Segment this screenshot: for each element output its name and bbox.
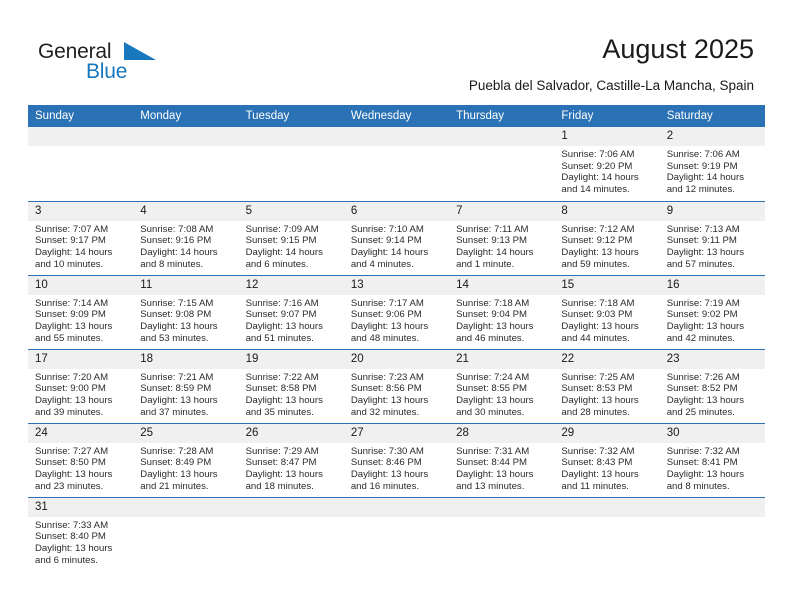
- calendar-day-cell[interactable]: 19Sunrise: 7:22 AMSunset: 8:58 PMDayligh…: [239, 349, 344, 423]
- day-sun-info: Sunrise: 7:30 AMSunset: 8:46 PMDaylight:…: [344, 443, 449, 493]
- day-sun-info: [554, 517, 659, 520]
- calendar-day-cell[interactable]: 16Sunrise: 7:19 AMSunset: 9:02 PMDayligh…: [660, 275, 765, 349]
- day-sun-info: Sunrise: 7:15 AMSunset: 9:08 PMDaylight:…: [133, 295, 238, 345]
- day-number: [133, 498, 238, 517]
- day-sun-info: [239, 517, 344, 520]
- day-sun-info: Sunrise: 7:11 AMSunset: 9:13 PMDaylight:…: [449, 221, 554, 271]
- day-cell-content: 17Sunrise: 7:20 AMSunset: 9:00 PMDayligh…: [28, 350, 133, 423]
- day-cell-content: 7Sunrise: 7:11 AMSunset: 9:13 PMDaylight…: [449, 202, 554, 275]
- day-info-line: Sunset: 9:20 PM: [561, 161, 655, 173]
- day-info-line: Daylight: 13 hours: [35, 543, 129, 555]
- day-info-line: and 1 minute.: [456, 259, 550, 271]
- day-sun-info: Sunrise: 7:18 AMSunset: 9:04 PMDaylight:…: [449, 295, 554, 345]
- sunrise-sunset-calendar: SundayMondayTuesdayWednesdayThursdayFrid…: [28, 105, 765, 571]
- day-info-line: Sunset: 9:17 PM: [35, 235, 129, 247]
- calendar-day-cell-empty: [239, 497, 344, 571]
- day-info-line: Daylight: 13 hours: [456, 395, 550, 407]
- calendar-week-row: 31Sunrise: 7:33 AMSunset: 8:40 PMDayligh…: [28, 497, 765, 571]
- day-cell-content: 6Sunrise: 7:10 AMSunset: 9:14 PMDaylight…: [344, 202, 449, 275]
- calendar-day-cell[interactable]: 30Sunrise: 7:32 AMSunset: 8:41 PMDayligh…: [660, 423, 765, 497]
- calendar-day-cell[interactable]: 28Sunrise: 7:31 AMSunset: 8:44 PMDayligh…: [449, 423, 554, 497]
- calendar-day-cell[interactable]: 3Sunrise: 7:07 AMSunset: 9:17 PMDaylight…: [28, 201, 133, 275]
- day-number: [449, 498, 554, 517]
- day-cell-content: 25Sunrise: 7:28 AMSunset: 8:49 PMDayligh…: [133, 424, 238, 497]
- day-number: 9: [660, 202, 765, 221]
- day-number: 7: [449, 202, 554, 221]
- day-info-line: Sunrise: 7:17 AM: [351, 298, 445, 310]
- calendar-day-cell[interactable]: 17Sunrise: 7:20 AMSunset: 9:00 PMDayligh…: [28, 349, 133, 423]
- day-cell-content: 20Sunrise: 7:23 AMSunset: 8:56 PMDayligh…: [344, 350, 449, 423]
- day-info-line: Sunrise: 7:09 AM: [246, 224, 340, 236]
- day-info-line: Daylight: 13 hours: [351, 395, 445, 407]
- day-cell-content: 5Sunrise: 7:09 AMSunset: 9:15 PMDaylight…: [239, 202, 344, 275]
- day-number: 2: [660, 127, 765, 146]
- day-number: [344, 127, 449, 146]
- calendar-day-cell[interactable]: 31Sunrise: 7:33 AMSunset: 8:40 PMDayligh…: [28, 497, 133, 571]
- calendar-day-cell[interactable]: 12Sunrise: 7:16 AMSunset: 9:07 PMDayligh…: [239, 275, 344, 349]
- day-info-line: and 39 minutes.: [35, 407, 129, 419]
- day-info-line: Daylight: 13 hours: [561, 395, 655, 407]
- day-info-line: Sunset: 8:59 PM: [140, 383, 234, 395]
- calendar-day-cell[interactable]: 24Sunrise: 7:27 AMSunset: 8:50 PMDayligh…: [28, 423, 133, 497]
- day-sun-info: Sunrise: 7:12 AMSunset: 9:12 PMDaylight:…: [554, 221, 659, 271]
- calendar-day-cell[interactable]: 26Sunrise: 7:29 AMSunset: 8:47 PMDayligh…: [239, 423, 344, 497]
- day-info-line: Daylight: 13 hours: [246, 321, 340, 333]
- day-info-line: Sunset: 9:08 PM: [140, 309, 234, 321]
- day-info-line: and 6 minutes.: [35, 555, 129, 567]
- day-info-line: Sunrise: 7:06 AM: [561, 149, 655, 161]
- day-number: 4: [133, 202, 238, 221]
- calendar-day-cell[interactable]: 11Sunrise: 7:15 AMSunset: 9:08 PMDayligh…: [133, 275, 238, 349]
- day-info-line: and 18 minutes.: [246, 481, 340, 493]
- day-info-line: Sunrise: 7:06 AM: [667, 149, 761, 161]
- day-sun-info: [449, 517, 554, 520]
- calendar-body: 1Sunrise: 7:06 AMSunset: 9:20 PMDaylight…: [28, 127, 765, 571]
- day-info-line: Daylight: 13 hours: [667, 321, 761, 333]
- calendar-day-cell[interactable]: 10Sunrise: 7:14 AMSunset: 9:09 PMDayligh…: [28, 275, 133, 349]
- calendar-header-row: SundayMondayTuesdayWednesdayThursdayFrid…: [28, 105, 765, 127]
- calendar-week-row: 3Sunrise: 7:07 AMSunset: 9:17 PMDaylight…: [28, 201, 765, 275]
- day-info-line: and 46 minutes.: [456, 333, 550, 345]
- day-number: [28, 127, 133, 146]
- page-subtitle: Puebla del Salvador, Castille-La Mancha,…: [469, 78, 754, 94]
- day-info-line: and 23 minutes.: [35, 481, 129, 493]
- calendar-day-cell[interactable]: 9Sunrise: 7:13 AMSunset: 9:11 PMDaylight…: [660, 201, 765, 275]
- weekday-header-tuesday: Tuesday: [239, 105, 344, 127]
- day-number: 8: [554, 202, 659, 221]
- day-info-line: Sunset: 8:47 PM: [246, 457, 340, 469]
- day-info-line: Daylight: 13 hours: [456, 321, 550, 333]
- day-info-line: and 35 minutes.: [246, 407, 340, 419]
- day-info-line: Sunrise: 7:15 AM: [140, 298, 234, 310]
- day-cell-content: 11Sunrise: 7:15 AMSunset: 9:08 PMDayligh…: [133, 276, 238, 349]
- day-sun-info: Sunrise: 7:13 AMSunset: 9:11 PMDaylight:…: [660, 221, 765, 271]
- day-info-line: Sunrise: 7:23 AM: [351, 372, 445, 384]
- day-info-line: Sunrise: 7:33 AM: [35, 520, 129, 532]
- day-info-line: and 13 minutes.: [456, 481, 550, 493]
- day-cell-content: [660, 498, 765, 572]
- day-info-line: and 14 minutes.: [561, 184, 655, 196]
- day-info-line: and 28 minutes.: [561, 407, 655, 419]
- day-info-line: Sunrise: 7:18 AM: [561, 298, 655, 310]
- day-info-line: Sunset: 8:53 PM: [561, 383, 655, 395]
- day-sun-info: Sunrise: 7:33 AMSunset: 8:40 PMDaylight:…: [28, 517, 133, 567]
- day-cell-content: [239, 127, 344, 201]
- day-info-line: Sunrise: 7:12 AM: [561, 224, 655, 236]
- day-info-line: Sunset: 9:13 PM: [456, 235, 550, 247]
- calendar-week-row: 24Sunrise: 7:27 AMSunset: 8:50 PMDayligh…: [28, 423, 765, 497]
- day-cell-content: 26Sunrise: 7:29 AMSunset: 8:47 PMDayligh…: [239, 424, 344, 497]
- day-info-line: Daylight: 14 hours: [35, 247, 129, 259]
- calendar-week-row: 10Sunrise: 7:14 AMSunset: 9:09 PMDayligh…: [28, 275, 765, 349]
- day-sun-info: Sunrise: 7:32 AMSunset: 8:43 PMDaylight:…: [554, 443, 659, 493]
- day-info-line: Sunset: 8:56 PM: [351, 383, 445, 395]
- day-info-line: Daylight: 14 hours: [246, 247, 340, 259]
- day-cell-content: [344, 498, 449, 572]
- weekday-header-saturday: Saturday: [660, 105, 765, 127]
- day-cell-content: 15Sunrise: 7:18 AMSunset: 9:03 PMDayligh…: [554, 276, 659, 349]
- calendar-day-cell-empty: [239, 127, 344, 201]
- day-number: 5: [239, 202, 344, 221]
- day-info-line: Sunrise: 7:07 AM: [35, 224, 129, 236]
- logo-text-blue: Blue: [86, 60, 127, 84]
- day-info-line: Sunset: 9:02 PM: [667, 309, 761, 321]
- day-sun-info: [660, 517, 765, 520]
- day-info-line: Sunrise: 7:11 AM: [456, 224, 550, 236]
- day-number: 17: [28, 350, 133, 369]
- day-info-line: Sunrise: 7:20 AM: [35, 372, 129, 384]
- calendar-day-cell-empty: [28, 127, 133, 201]
- calendar-day-cell-empty: [554, 497, 659, 571]
- day-info-line: Daylight: 13 hours: [140, 395, 234, 407]
- day-number: [660, 498, 765, 517]
- day-cell-content: 31Sunrise: 7:33 AMSunset: 8:40 PMDayligh…: [28, 498, 133, 572]
- day-sun-info: Sunrise: 7:28 AMSunset: 8:49 PMDaylight:…: [133, 443, 238, 493]
- day-info-line: Sunrise: 7:10 AM: [351, 224, 445, 236]
- day-info-line: Sunset: 9:12 PM: [561, 235, 655, 247]
- day-info-line: Daylight: 13 hours: [35, 321, 129, 333]
- day-info-line: Sunset: 8:52 PM: [667, 383, 761, 395]
- day-sun-info: [133, 146, 238, 149]
- day-info-line: Sunrise: 7:26 AM: [667, 372, 761, 384]
- day-sun-info: Sunrise: 7:10 AMSunset: 9:14 PMDaylight:…: [344, 221, 449, 271]
- day-info-line: Sunset: 9:15 PM: [246, 235, 340, 247]
- day-number: 23: [660, 350, 765, 369]
- day-cell-content: 1Sunrise: 7:06 AMSunset: 9:20 PMDaylight…: [554, 127, 659, 201]
- day-info-line: Sunset: 8:58 PM: [246, 383, 340, 395]
- day-info-line: Sunrise: 7:08 AM: [140, 224, 234, 236]
- day-sun-info: Sunrise: 7:06 AMSunset: 9:19 PMDaylight:…: [660, 146, 765, 196]
- day-number: 29: [554, 424, 659, 443]
- day-info-line: Sunset: 9:11 PM: [667, 235, 761, 247]
- day-number: 16: [660, 276, 765, 295]
- day-cell-content: [344, 127, 449, 201]
- day-info-line: Sunrise: 7:16 AM: [246, 298, 340, 310]
- day-info-line: Daylight: 13 hours: [246, 395, 340, 407]
- day-number: [344, 498, 449, 517]
- day-info-line: Sunset: 8:44 PM: [456, 457, 550, 469]
- day-info-line: Sunrise: 7:14 AM: [35, 298, 129, 310]
- calendar-day-cell[interactable]: 20Sunrise: 7:23 AMSunset: 8:56 PMDayligh…: [344, 349, 449, 423]
- day-info-line: Daylight: 14 hours: [140, 247, 234, 259]
- calendar-day-cell[interactable]: 8Sunrise: 7:12 AMSunset: 9:12 PMDaylight…: [554, 201, 659, 275]
- day-info-line: and 11 minutes.: [561, 481, 655, 493]
- day-info-line: and 8 minutes.: [140, 259, 234, 271]
- day-cell-content: 23Sunrise: 7:26 AMSunset: 8:52 PMDayligh…: [660, 350, 765, 423]
- day-cell-content: 29Sunrise: 7:32 AMSunset: 8:43 PMDayligh…: [554, 424, 659, 497]
- day-info-line: and 25 minutes.: [667, 407, 761, 419]
- day-sun-info: [239, 146, 344, 149]
- day-sun-info: [344, 517, 449, 520]
- day-info-line: Sunset: 9:14 PM: [351, 235, 445, 247]
- day-number: 30: [660, 424, 765, 443]
- day-info-line: and 12 minutes.: [667, 184, 761, 196]
- day-sun-info: [449, 146, 554, 149]
- day-number: [554, 498, 659, 517]
- day-info-line: Daylight: 13 hours: [561, 469, 655, 481]
- day-sun-info: Sunrise: 7:09 AMSunset: 9:15 PMDaylight:…: [239, 221, 344, 271]
- day-number: 3: [28, 202, 133, 221]
- calendar-day-cell[interactable]: 15Sunrise: 7:18 AMSunset: 9:03 PMDayligh…: [554, 275, 659, 349]
- calendar-day-cell[interactable]: 5Sunrise: 7:09 AMSunset: 9:15 PMDaylight…: [239, 201, 344, 275]
- day-sun-info: [28, 146, 133, 149]
- day-info-line: Sunset: 9:04 PM: [456, 309, 550, 321]
- flag-icon: [124, 42, 156, 64]
- calendar-day-cell[interactable]: 27Sunrise: 7:30 AMSunset: 8:46 PMDayligh…: [344, 423, 449, 497]
- day-cell-content: [554, 498, 659, 572]
- day-sun-info: [344, 146, 449, 149]
- day-info-line: Daylight: 13 hours: [561, 321, 655, 333]
- weekday-header-thursday: Thursday: [449, 105, 554, 127]
- day-info-line: Sunrise: 7:24 AM: [456, 372, 550, 384]
- day-cell-content: 13Sunrise: 7:17 AMSunset: 9:06 PMDayligh…: [344, 276, 449, 349]
- day-info-line: Sunrise: 7:29 AM: [246, 446, 340, 458]
- calendar-day-cell-empty: [344, 497, 449, 571]
- day-info-line: and 4 minutes.: [351, 259, 445, 271]
- day-info-line: Sunrise: 7:31 AM: [456, 446, 550, 458]
- day-info-line: Daylight: 13 hours: [140, 321, 234, 333]
- day-info-line: Sunset: 8:55 PM: [456, 383, 550, 395]
- day-number: 22: [554, 350, 659, 369]
- day-sun-info: Sunrise: 7:23 AMSunset: 8:56 PMDaylight:…: [344, 369, 449, 419]
- day-number: 10: [28, 276, 133, 295]
- calendar-week-row: 1Sunrise: 7:06 AMSunset: 9:20 PMDaylight…: [28, 127, 765, 201]
- day-cell-content: 14Sunrise: 7:18 AMSunset: 9:04 PMDayligh…: [449, 276, 554, 349]
- calendar-day-cell[interactable]: 2Sunrise: 7:06 AMSunset: 9:19 PMDaylight…: [660, 127, 765, 201]
- day-number: [449, 127, 554, 146]
- calendar-day-cell[interactable]: 22Sunrise: 7:25 AMSunset: 8:53 PMDayligh…: [554, 349, 659, 423]
- day-info-line: Sunset: 8:46 PM: [351, 457, 445, 469]
- day-info-line: Sunset: 9:00 PM: [35, 383, 129, 395]
- day-info-line: Daylight: 13 hours: [351, 321, 445, 333]
- day-number: [239, 498, 344, 517]
- day-cell-content: [133, 498, 238, 572]
- calendar-day-cell-empty: [449, 127, 554, 201]
- day-info-line: Daylight: 13 hours: [667, 469, 761, 481]
- day-cell-content: 9Sunrise: 7:13 AMSunset: 9:11 PMDaylight…: [660, 202, 765, 275]
- day-sun-info: Sunrise: 7:14 AMSunset: 9:09 PMDaylight:…: [28, 295, 133, 345]
- day-info-line: and 37 minutes.: [140, 407, 234, 419]
- day-info-line: Daylight: 14 hours: [667, 172, 761, 184]
- day-sun-info: Sunrise: 7:17 AMSunset: 9:06 PMDaylight:…: [344, 295, 449, 345]
- day-cell-content: [449, 498, 554, 572]
- calendar-day-cell[interactable]: 7Sunrise: 7:11 AMSunset: 9:13 PMDaylight…: [449, 201, 554, 275]
- day-info-line: and 21 minutes.: [140, 481, 234, 493]
- calendar-day-cell-empty: [660, 497, 765, 571]
- day-number: 26: [239, 424, 344, 443]
- day-info-line: and 44 minutes.: [561, 333, 655, 345]
- calendar-day-cell[interactable]: 14Sunrise: 7:18 AMSunset: 9:04 PMDayligh…: [449, 275, 554, 349]
- calendar-day-cell[interactable]: 1Sunrise: 7:06 AMSunset: 9:20 PMDaylight…: [554, 127, 659, 201]
- day-cell-content: [28, 127, 133, 201]
- day-info-line: Daylight: 13 hours: [35, 395, 129, 407]
- day-info-line: Sunrise: 7:22 AM: [246, 372, 340, 384]
- day-info-line: Daylight: 13 hours: [246, 469, 340, 481]
- day-sun-info: Sunrise: 7:29 AMSunset: 8:47 PMDaylight:…: [239, 443, 344, 493]
- day-info-line: Daylight: 13 hours: [667, 247, 761, 259]
- day-sun-info: Sunrise: 7:16 AMSunset: 9:07 PMDaylight:…: [239, 295, 344, 345]
- day-cell-content: [133, 127, 238, 201]
- day-cell-content: 24Sunrise: 7:27 AMSunset: 8:50 PMDayligh…: [28, 424, 133, 497]
- calendar-day-cell[interactable]: 23Sunrise: 7:26 AMSunset: 8:52 PMDayligh…: [660, 349, 765, 423]
- day-info-line: and 57 minutes.: [667, 259, 761, 271]
- calendar-page: General Blue August 2025 Puebla del Salv…: [0, 0, 792, 612]
- day-cell-content: 10Sunrise: 7:14 AMSunset: 9:09 PMDayligh…: [28, 276, 133, 349]
- day-sun-info: Sunrise: 7:18 AMSunset: 9:03 PMDaylight:…: [554, 295, 659, 345]
- day-info-line: Daylight: 13 hours: [35, 469, 129, 481]
- day-info-line: Daylight: 14 hours: [456, 247, 550, 259]
- page-header: General Blue August 2025 Puebla del Salv…: [0, 0, 792, 100]
- day-info-line: Sunset: 8:43 PM: [561, 457, 655, 469]
- day-number: 1: [554, 127, 659, 146]
- calendar-day-cell[interactable]: 29Sunrise: 7:32 AMSunset: 8:43 PMDayligh…: [554, 423, 659, 497]
- day-info-line: Sunrise: 7:28 AM: [140, 446, 234, 458]
- day-info-line: Daylight: 13 hours: [140, 469, 234, 481]
- day-cell-content: 2Sunrise: 7:06 AMSunset: 9:19 PMDaylight…: [660, 127, 765, 201]
- day-sun-info: Sunrise: 7:31 AMSunset: 8:44 PMDaylight:…: [449, 443, 554, 493]
- day-cell-content: 22Sunrise: 7:25 AMSunset: 8:53 PMDayligh…: [554, 350, 659, 423]
- day-info-line: Sunset: 9:03 PM: [561, 309, 655, 321]
- day-info-line: Sunset: 9:07 PM: [246, 309, 340, 321]
- day-info-line: and 32 minutes.: [351, 407, 445, 419]
- day-cell-content: 4Sunrise: 7:08 AMSunset: 9:16 PMDaylight…: [133, 202, 238, 275]
- day-info-line: Sunrise: 7:18 AM: [456, 298, 550, 310]
- day-info-line: Sunset: 9:06 PM: [351, 309, 445, 321]
- weekday-header-monday: Monday: [133, 105, 238, 127]
- general-blue-logo[interactable]: General Blue: [38, 40, 168, 90]
- day-info-line: Daylight: 13 hours: [351, 469, 445, 481]
- weekday-header-wednesday: Wednesday: [344, 105, 449, 127]
- day-number: 19: [239, 350, 344, 369]
- day-cell-content: [449, 127, 554, 201]
- day-info-line: Sunrise: 7:25 AM: [561, 372, 655, 384]
- day-info-line: and 16 minutes.: [351, 481, 445, 493]
- day-info-line: Sunrise: 7:32 AM: [667, 446, 761, 458]
- day-sun-info: [133, 517, 238, 520]
- day-sun-info: Sunrise: 7:06 AMSunset: 9:20 PMDaylight:…: [554, 146, 659, 196]
- day-number: 20: [344, 350, 449, 369]
- day-info-line: Sunrise: 7:32 AM: [561, 446, 655, 458]
- day-info-line: and 8 minutes.: [667, 481, 761, 493]
- calendar-day-cell-empty: [133, 497, 238, 571]
- day-info-line: Sunset: 9:16 PM: [140, 235, 234, 247]
- day-info-line: and 55 minutes.: [35, 333, 129, 345]
- calendar-day-cell[interactable]: 4Sunrise: 7:08 AMSunset: 9:16 PMDaylight…: [133, 201, 238, 275]
- calendar-day-cell-empty: [344, 127, 449, 201]
- day-info-line: Sunset: 8:40 PM: [35, 531, 129, 543]
- day-sun-info: Sunrise: 7:21 AMSunset: 8:59 PMDaylight:…: [133, 369, 238, 419]
- day-cell-content: 27Sunrise: 7:30 AMSunset: 8:46 PMDayligh…: [344, 424, 449, 497]
- day-info-line: and 30 minutes.: [456, 407, 550, 419]
- calendar-day-cell[interactable]: 6Sunrise: 7:10 AMSunset: 9:14 PMDaylight…: [344, 201, 449, 275]
- weekday-header-sunday: Sunday: [28, 105, 133, 127]
- calendar-day-cell[interactable]: 21Sunrise: 7:24 AMSunset: 8:55 PMDayligh…: [449, 349, 554, 423]
- day-cell-content: [239, 498, 344, 572]
- day-info-line: Sunset: 8:41 PM: [667, 457, 761, 469]
- day-sun-info: Sunrise: 7:27 AMSunset: 8:50 PMDaylight:…: [28, 443, 133, 493]
- day-cell-content: 30Sunrise: 7:32 AMSunset: 8:41 PMDayligh…: [660, 424, 765, 497]
- day-info-line: and 59 minutes.: [561, 259, 655, 271]
- day-number: 14: [449, 276, 554, 295]
- day-cell-content: 12Sunrise: 7:16 AMSunset: 9:07 PMDayligh…: [239, 276, 344, 349]
- day-sun-info: Sunrise: 7:25 AMSunset: 8:53 PMDaylight:…: [554, 369, 659, 419]
- day-number: 31: [28, 498, 133, 517]
- day-number: [133, 127, 238, 146]
- day-number: 12: [239, 276, 344, 295]
- calendar-day-cell[interactable]: 18Sunrise: 7:21 AMSunset: 8:59 PMDayligh…: [133, 349, 238, 423]
- day-sun-info: Sunrise: 7:20 AMSunset: 9:00 PMDaylight:…: [28, 369, 133, 419]
- calendar-day-cell[interactable]: 25Sunrise: 7:28 AMSunset: 8:49 PMDayligh…: [133, 423, 238, 497]
- calendar-week-row: 17Sunrise: 7:20 AMSunset: 9:00 PMDayligh…: [28, 349, 765, 423]
- day-info-line: Sunrise: 7:19 AM: [667, 298, 761, 310]
- day-number: 13: [344, 276, 449, 295]
- day-info-line: Sunrise: 7:21 AM: [140, 372, 234, 384]
- day-number: 24: [28, 424, 133, 443]
- calendar-day-cell-empty: [133, 127, 238, 201]
- day-cell-content: 21Sunrise: 7:24 AMSunset: 8:55 PMDayligh…: [449, 350, 554, 423]
- day-cell-content: 8Sunrise: 7:12 AMSunset: 9:12 PMDaylight…: [554, 202, 659, 275]
- day-sun-info: Sunrise: 7:32 AMSunset: 8:41 PMDaylight:…: [660, 443, 765, 493]
- day-number: [239, 127, 344, 146]
- day-info-line: and 10 minutes.: [35, 259, 129, 271]
- day-info-line: Sunset: 8:49 PM: [140, 457, 234, 469]
- day-info-line: Sunset: 9:19 PM: [667, 161, 761, 173]
- day-number: 6: [344, 202, 449, 221]
- day-cell-content: 18Sunrise: 7:21 AMSunset: 8:59 PMDayligh…: [133, 350, 238, 423]
- day-number: 21: [449, 350, 554, 369]
- weekday-header-friday: Friday: [554, 105, 659, 127]
- calendar-day-cell-empty: [449, 497, 554, 571]
- day-number: 11: [133, 276, 238, 295]
- day-cell-content: 28Sunrise: 7:31 AMSunset: 8:44 PMDayligh…: [449, 424, 554, 497]
- day-sun-info: Sunrise: 7:07 AMSunset: 9:17 PMDaylight:…: [28, 221, 133, 271]
- day-info-line: and 42 minutes.: [667, 333, 761, 345]
- day-number: 25: [133, 424, 238, 443]
- day-info-line: Daylight: 13 hours: [456, 469, 550, 481]
- day-number: 27: [344, 424, 449, 443]
- day-info-line: Sunrise: 7:27 AM: [35, 446, 129, 458]
- day-number: 18: [133, 350, 238, 369]
- day-info-line: and 53 minutes.: [140, 333, 234, 345]
- day-sun-info: Sunrise: 7:22 AMSunset: 8:58 PMDaylight:…: [239, 369, 344, 419]
- day-info-line: Daylight: 13 hours: [561, 247, 655, 259]
- day-number: 28: [449, 424, 554, 443]
- day-sun-info: Sunrise: 7:08 AMSunset: 9:16 PMDaylight:…: [133, 221, 238, 271]
- day-cell-content: 19Sunrise: 7:22 AMSunset: 8:58 PMDayligh…: [239, 350, 344, 423]
- day-info-line: Sunset: 9:09 PM: [35, 309, 129, 321]
- day-info-line: Daylight: 14 hours: [351, 247, 445, 259]
- calendar-day-cell[interactable]: 13Sunrise: 7:17 AMSunset: 9:06 PMDayligh…: [344, 275, 449, 349]
